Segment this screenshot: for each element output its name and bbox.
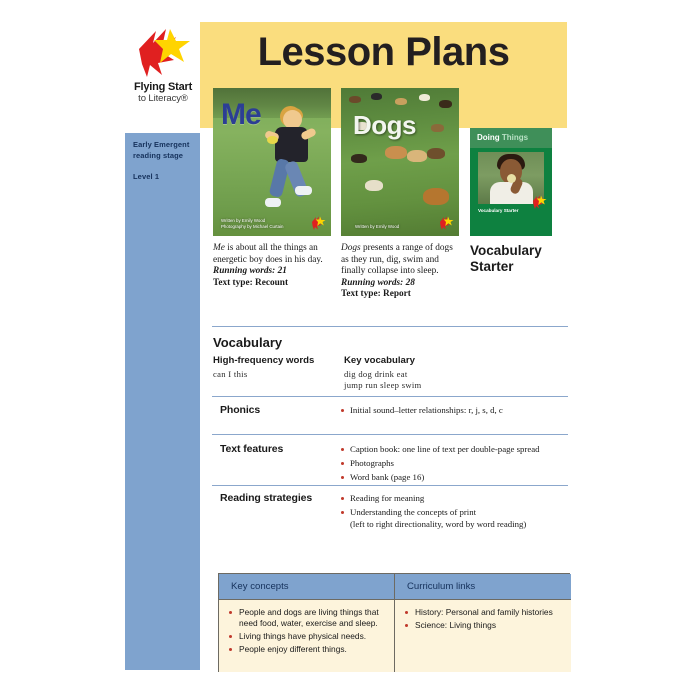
blurb-title: Me <box>213 243 225 253</box>
cover-photo-boy <box>265 110 319 222</box>
list-item: People and dogs are living things that n… <box>229 607 389 629</box>
table-cell-curriculum-links: History: Personal and family histories S… <box>395 600 571 672</box>
list-item: Word bank (page 16) <box>341 471 569 483</box>
key-concepts-list: People and dogs are living things that n… <box>229 607 389 657</box>
table-cell-key-concepts: People and dogs are living things that n… <box>219 600 395 672</box>
blurb-text: is about all the things an energetic boy… <box>213 243 323 265</box>
cover-dog <box>371 93 382 100</box>
table-header-label: Curriculum links <box>407 581 475 592</box>
list-item: Science: Living things <box>405 620 565 631</box>
list-item-subtext: (left to right directionality, word by w… <box>350 518 569 530</box>
running-words-dogs: Running words: 28 <box>341 278 461 290</box>
publisher-badge-icon <box>532 195 547 210</box>
table-header-key-concepts: Key concepts <box>219 574 395 600</box>
publisher-badge-icon <box>439 216 454 231</box>
list-item: Initial sound–letter relationships: r, j… <box>341 404 566 416</box>
running-words-me: Running words: 21 <box>213 266 333 278</box>
section-divider <box>212 434 568 435</box>
cover-dog <box>395 98 407 105</box>
lesson-plan-page: Flying Start to Literacy® Early Emergent… <box>0 0 700 700</box>
caption-line2: Starter <box>470 259 566 275</box>
cover-dog <box>439 100 452 108</box>
cover-credit-photographer: Photography by Michael Curtain <box>221 224 283 230</box>
brand-logo: Flying Start to Literacy® <box>127 27 199 123</box>
cover-dog <box>385 146 407 159</box>
list-item: Living things have physical needs. <box>229 631 389 642</box>
cover-credits-me: Written by Emily Wood Photography by Mic… <box>221 218 283 230</box>
key-vocabulary-row2: jump run sleep swim <box>344 380 422 391</box>
cover-dog <box>351 154 367 163</box>
table-header-label: Key concepts <box>231 581 289 592</box>
cover-dog <box>431 124 444 132</box>
brand-name: Flying Start <box>127 81 199 93</box>
phonics-list: Initial sound–letter relationships: r, j… <box>341 404 566 418</box>
curriculum-links-list: History: Personal and family histories S… <box>405 607 565 633</box>
book-cover-dogs[interactable]: Dogs Written by Emily Wood <box>341 88 459 236</box>
high-frequency-words: can I this <box>213 369 248 380</box>
reading-stage-sidebar <box>125 133 200 670</box>
vocabulary-starter-caption: Vocabulary Starter <box>470 243 566 275</box>
sidebar-labels: Early Emergent reading stage Level 1 <box>133 140 199 183</box>
text-type-me: Text type: Recount <box>213 278 333 290</box>
cover-title-dogs: Dogs <box>353 110 416 141</box>
list-item: Understanding the concepts of print(left… <box>341 506 569 530</box>
table-header-curriculum-links: Curriculum links <box>395 574 571 600</box>
cover-title-bold: Doing <box>477 133 500 142</box>
cover-dog <box>407 150 427 162</box>
book-blurb-me: Me is about all the things an energetic … <box>213 243 333 289</box>
sidebar-stage-line1: Early Emergent <box>133 140 199 151</box>
cover-dog <box>365 180 383 191</box>
list-item: Caption book: one line of text per doubl… <box>341 443 569 455</box>
book-cover-me[interactable]: Me Written by Emily Wood Photography by … <box>213 88 331 236</box>
cover-title-doing-things: Doing Things <box>477 133 528 142</box>
section-label-phonics: Phonics <box>220 404 260 416</box>
concepts-table: Key concepts Curriculum links People and… <box>218 573 570 672</box>
publisher-badge-icon <box>311 216 326 231</box>
book-cover-vocabulary-starter[interactable]: Doing Things Vocabulary Starter <box>470 128 552 236</box>
cover-title-me: Me <box>221 98 261 132</box>
section-label-text-features: Text features <box>220 443 283 455</box>
list-item: History: Personal and family histories <box>405 607 565 618</box>
cover-dog <box>423 188 449 205</box>
cover-dog <box>419 94 430 101</box>
section-divider <box>212 326 568 327</box>
blurb-title: Dogs <box>341 243 361 253</box>
cover-dog <box>427 148 445 159</box>
section-label-reading-strategies: Reading strategies <box>220 492 312 504</box>
key-vocabulary-row1: dig dog drink eat <box>344 369 408 380</box>
list-item: People enjoy different things. <box>229 644 389 655</box>
section-heading-vocabulary: Vocabulary <box>213 335 282 350</box>
list-item: Reading for meaning <box>341 492 569 504</box>
section-divider <box>212 396 568 397</box>
page-title: Lesson Plans <box>200 30 567 75</box>
text-type-dogs: Text type: Report <box>341 289 461 301</box>
section-divider <box>212 485 568 486</box>
cover-label: Vocabulary Starter <box>478 208 519 213</box>
caption-line1: Vocabulary <box>470 243 566 259</box>
book-blurb-dogs: Dogs presents a range of dogs as they ru… <box>341 243 461 301</box>
label-key-vocabulary: Key vocabulary <box>344 355 415 366</box>
label-high-frequency-words: High-frequency words <box>213 355 314 366</box>
list-item: Photographs <box>341 457 569 469</box>
list-item-text: Understanding the concepts of print <box>350 507 476 517</box>
sidebar-level: Level 1 <box>133 172 199 183</box>
text-features-list: Caption book: one line of text per doubl… <box>341 443 569 485</box>
cover-credits-dogs: Written by Emily Wood <box>355 224 399 229</box>
cover-dog <box>349 96 361 103</box>
brand-tagline: to Literacy® <box>127 93 199 104</box>
reading-strategies-list: Reading for meaning Understanding the co… <box>341 492 569 532</box>
star-burst-logo-icon <box>136 27 192 81</box>
cover-title-light: Things <box>502 133 528 142</box>
sidebar-stage-line2: reading stage <box>133 151 199 162</box>
